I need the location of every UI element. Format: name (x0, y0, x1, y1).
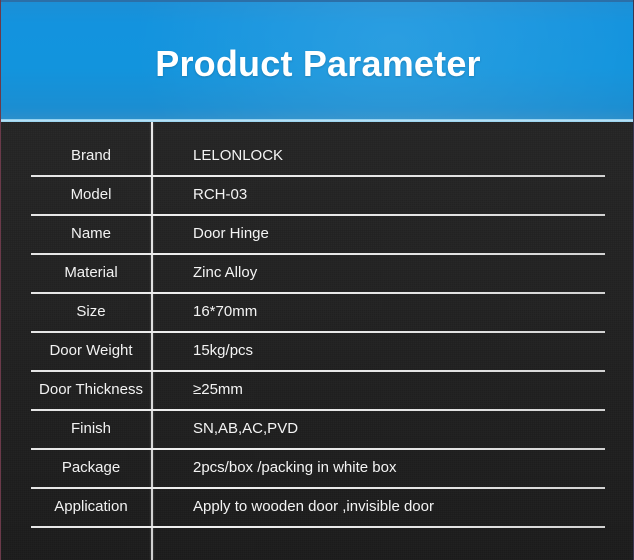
table-row: BrandLELONLOCK (1, 136, 634, 175)
parameter-value: SN,AB,AC,PVD (193, 409, 605, 448)
parameter-value: 15kg/pcs (193, 331, 605, 370)
table-row: Package2pcs/box /packing in white box (1, 448, 634, 487)
table-row: Size16*70mm (1, 292, 634, 331)
page-title: Product Parameter (1, 43, 634, 85)
parameter-label: Door Weight (31, 331, 151, 370)
table-row: ApplicationApply to wooden door ,invisib… (1, 487, 634, 526)
parameter-value: RCH-03 (193, 175, 605, 214)
table-row: ModelRCH-03 (1, 175, 634, 214)
table-row: Door Thickness≥25mm (1, 370, 634, 409)
parameter-label: Material (31, 253, 151, 292)
parameter-value: Door Hinge (193, 214, 605, 253)
parameter-label: Package (31, 448, 151, 487)
page-header-banner: Product Parameter (1, 0, 634, 122)
table-row: Door Weight15kg/pcs (1, 331, 634, 370)
parameter-value: 16*70mm (193, 292, 605, 331)
parameter-value: Zinc Alloy (193, 253, 605, 292)
table-row: FinishSN,AB,AC,PVD (1, 409, 634, 448)
parameter-value: Apply to wooden door ,invisible door (193, 487, 605, 526)
table-row: MaterialZinc Alloy (1, 253, 634, 292)
parameter-label: Size (31, 292, 151, 331)
parameter-label: Brand (31, 136, 151, 175)
product-parameter-page: Product Parameter BrandLELONLOCKModelRCH… (0, 0, 634, 560)
parameter-value: 2pcs/box /packing in white box (193, 448, 605, 487)
parameter-label: Name (31, 214, 151, 253)
parameter-table: BrandLELONLOCKModelRCH-03NameDoor HingeM… (1, 122, 634, 560)
parameter-value: LELONLOCK (193, 136, 605, 175)
row-divider (31, 526, 605, 528)
parameter-label: Door Thickness (31, 370, 151, 409)
parameter-label: Finish (31, 409, 151, 448)
parameter-label: Application (31, 487, 151, 526)
table-row: NameDoor Hinge (1, 214, 634, 253)
parameter-label: Model (31, 175, 151, 214)
parameter-value: ≥25mm (193, 370, 605, 409)
